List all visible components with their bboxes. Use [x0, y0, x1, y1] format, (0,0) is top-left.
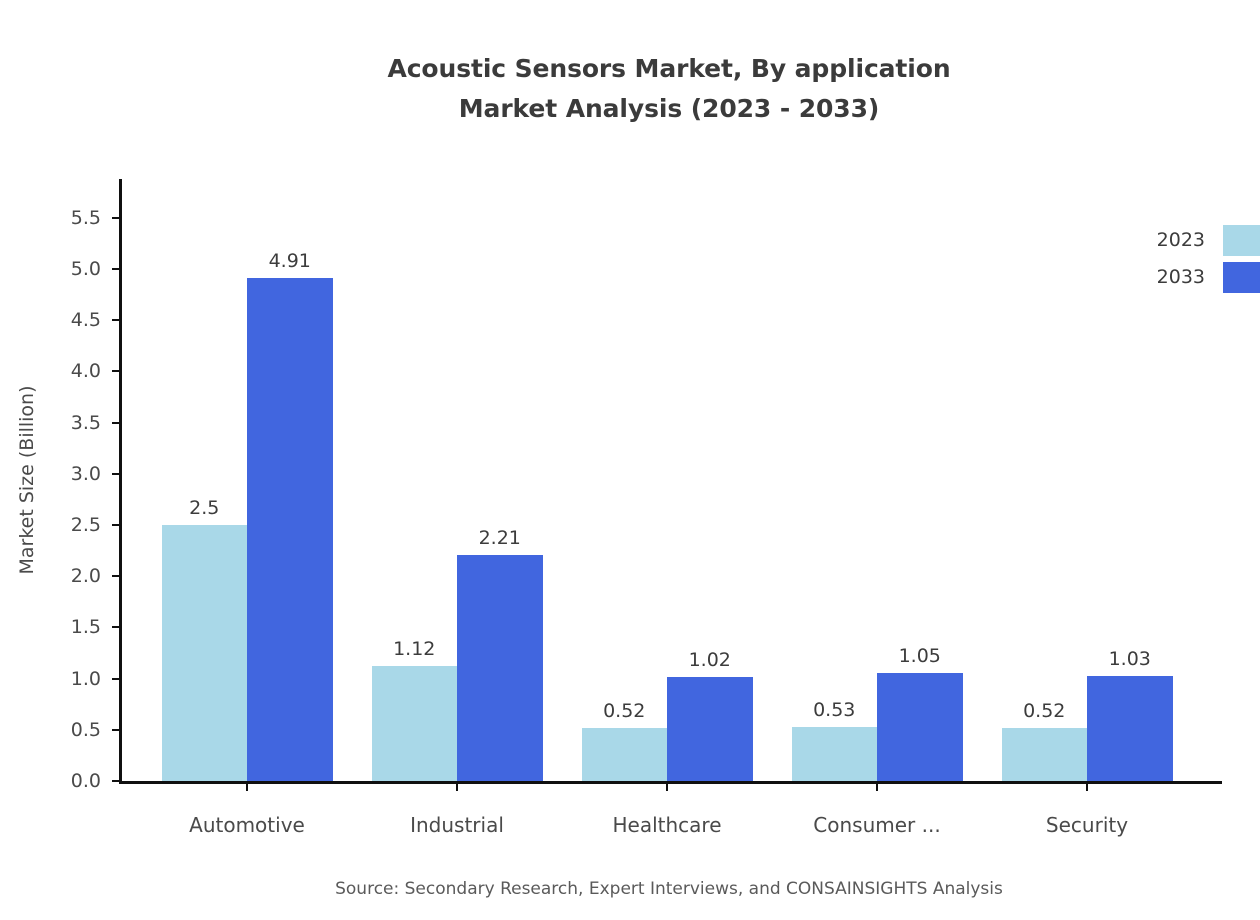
x-tick-label: Security — [957, 813, 1217, 837]
y-tick-label: 5.5 — [0, 207, 117, 229]
x-axis-spine — [119, 781, 1222, 784]
legend-label: 2023 — [1157, 222, 1205, 259]
bar-2033-security[interactable] — [1087, 676, 1173, 781]
legend-color-swatch — [1223, 262, 1260, 293]
bar-2023-security[interactable] — [1002, 728, 1088, 781]
bar-value-label: 1.03 — [1050, 648, 1210, 670]
chart-title-line-1: Acoustic Sensors Market, By application — [0, 49, 1260, 89]
bar-value-label: 4.91 — [210, 250, 370, 272]
bar-2023-automotive[interactable] — [162, 525, 248, 781]
chart-title-line-2: Market Analysis (2023 - 2033) — [0, 89, 1260, 129]
bar-2033-automotive[interactable] — [247, 278, 333, 781]
y-tick-label: 1.5 — [0, 616, 117, 638]
plot-area: 0.00.51.01.52.02.53.03.54.04.55.05.5 Aut… — [121, 179, 1222, 781]
chart-title: Acoustic Sensors Market, By application … — [0, 49, 1260, 129]
bar-value-label: 1.05 — [840, 645, 1000, 667]
bar-2033-industrial[interactable] — [457, 555, 543, 781]
x-tick-mark — [876, 782, 878, 791]
y-tick-label: 1.0 — [0, 668, 117, 690]
bar-2023-industrial[interactable] — [372, 666, 458, 781]
x-tick-mark — [1086, 782, 1088, 791]
y-tick-label: 0.5 — [0, 719, 117, 741]
bar-value-label: 1.02 — [630, 649, 790, 671]
y-tick-label: 2.0 — [0, 565, 117, 587]
bar-2033-consumer-[interactable] — [877, 673, 963, 781]
y-tick-label: 5.0 — [0, 258, 117, 280]
source-caption: Source: Secondary Research, Expert Inter… — [0, 879, 1260, 899]
chart-figure: Acoustic Sensors Market, By application … — [0, 0, 1260, 920]
bar-2033-healthcare[interactable] — [667, 677, 753, 781]
x-tick-mark — [666, 782, 668, 791]
y-tick-label: 0.0 — [0, 770, 117, 792]
x-tick-mark — [456, 782, 458, 791]
bar-2023-healthcare[interactable] — [582, 728, 668, 781]
legend-label: 2033 — [1157, 259, 1205, 296]
y-tick-label: 2.5 — [0, 514, 117, 536]
y-tick-label: 3.5 — [0, 412, 117, 434]
chart-legend: 20232033 — [1137, 222, 1260, 296]
legend-item-2033[interactable]: 2033 — [1137, 259, 1260, 296]
bar-2023-consumer-[interactable] — [792, 727, 878, 781]
legend-color-swatch — [1223, 225, 1260, 256]
y-tick-label: 4.5 — [0, 309, 117, 331]
bar-value-label: 2.21 — [420, 527, 580, 549]
x-tick-mark — [246, 782, 248, 791]
y-tick-label: 3.0 — [0, 463, 117, 485]
legend-item-2023[interactable]: 2023 — [1137, 222, 1260, 259]
y-tick-label: 4.0 — [0, 360, 117, 382]
